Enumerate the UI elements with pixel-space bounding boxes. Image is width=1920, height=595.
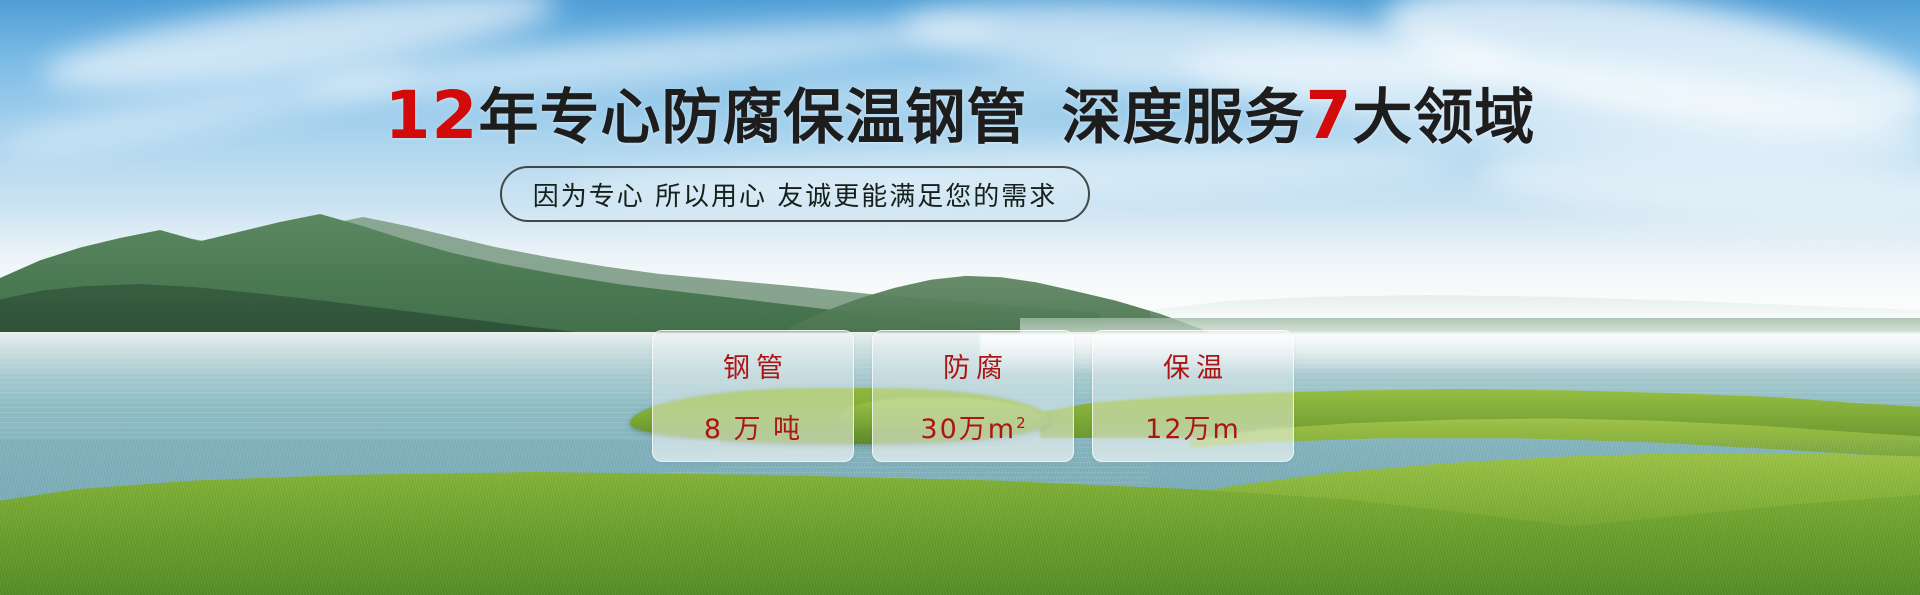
headline-number-fields: 7 [1305, 77, 1352, 154]
feature-card-list: 钢管 8 万 吨 防腐 30万m2 保温 12万m [652, 330, 1294, 462]
subtitle-text: 因为专心 所以用心 友诚更能满足您的需求 [533, 176, 1058, 213]
subtitle-pill: 因为专心 所以用心 友诚更能满足您的需求 [500, 166, 1090, 222]
card-value-text: 12万m [1145, 414, 1241, 445]
card-value: 8 万 吨 [704, 407, 802, 446]
card-value-text: 30万m [920, 414, 1016, 445]
card-value-superscript: 2 [1016, 414, 1026, 432]
card-title: 钢管 [717, 346, 789, 385]
card-value: 30万m2 [920, 407, 1025, 446]
headline-text-tertiary: 大领域 [1352, 83, 1535, 153]
headline-text-primary: 年专心防腐保温钢管 [478, 83, 1027, 153]
hero-banner: 12年专心防腐保温钢管深度服务7大领域 因为专心 所以用心 友诚更能满足您的需求… [0, 0, 1920, 595]
feature-card-steel-pipe[interactable]: 钢管 8 万 吨 [652, 330, 854, 462]
headline: 12年专心防腐保温钢管深度服务7大领域 [0, 84, 1920, 150]
card-value: 12万m [1145, 407, 1241, 446]
feature-card-insulation[interactable]: 保温 12万m [1092, 330, 1294, 462]
card-value-text: 8 万 吨 [704, 414, 802, 445]
headline-number-years: 12 [385, 77, 479, 154]
card-title: 保温 [1157, 346, 1229, 385]
headline-text-secondary: 深度服务 [1061, 83, 1305, 153]
card-title: 防腐 [937, 346, 1009, 385]
grass-texture [0, 440, 1920, 595]
feature-card-anticorrosion[interactable]: 防腐 30万m2 [872, 330, 1074, 462]
